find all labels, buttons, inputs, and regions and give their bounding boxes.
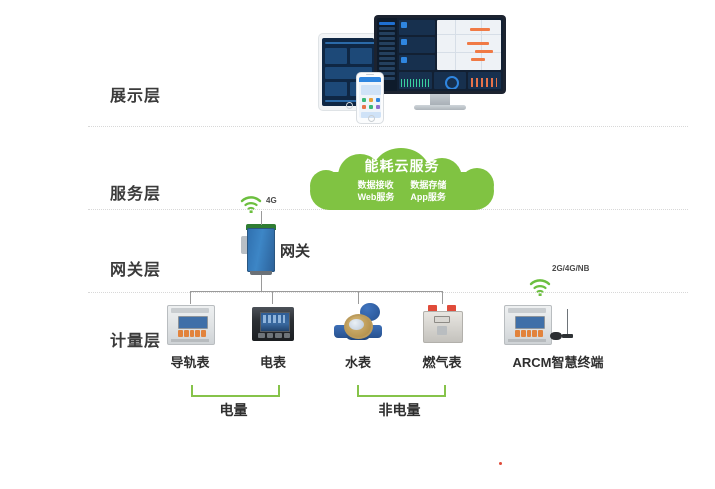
gateway-label: 网关 [280, 240, 310, 261]
wifi-signal-icon [529, 279, 551, 296]
layer-title-display: 展示层 [110, 82, 161, 106]
cloud-item-data-receive: 数据接收 [358, 179, 395, 191]
gateway-uplink-tag: 4G [266, 196, 277, 205]
layer-separator-gateway-metering [88, 292, 688, 293]
architecture-diagram: 展示层 服务层 网关层 计量层 [0, 0, 715, 443]
link-to-din-rail-meter [190, 291, 191, 304]
wifi-signal-icon [240, 196, 262, 213]
phone-screen [359, 77, 381, 118]
layer-title-service: 服务层 [110, 180, 161, 204]
link-gateway-trunk [261, 275, 262, 291]
device-label-electricity-meter: 电表 [250, 352, 296, 371]
layer-separator-display-service [88, 126, 688, 127]
dashboard-stat-cards [399, 20, 435, 70]
cloud-item-app-service: App服务 [410, 191, 446, 203]
layer-title-metering: 计量层 [110, 327, 161, 351]
device-label-din-rail-meter: 导轨表 [160, 352, 220, 371]
bracket-electric [191, 385, 280, 397]
gateway-device-icon [247, 228, 275, 272]
layer-title-gateway: 网关层 [110, 256, 161, 280]
antenna-icon [550, 309, 576, 343]
group-label-electric: 电量 [191, 400, 276, 420]
link-gateway-to-cloud [261, 211, 262, 225]
device-label-water-meter: 水表 [335, 352, 381, 371]
terminal-uplink-tag: 2G/4G/NB [552, 264, 589, 273]
water-meter-icon [334, 303, 382, 343]
monitor-screen [377, 18, 503, 91]
device-label-smart-terminal: ARCM智慧终端 [498, 352, 618, 371]
tablet-home-button [346, 102, 353, 109]
gas-meter-icon [421, 305, 463, 343]
monitor-icon [374, 15, 506, 113]
phone-icon [356, 72, 384, 124]
cloud-service-block: 能耗云服务 数据接收 Web服务 数据存储 App服务 [310, 150, 494, 210]
smart-terminal-icon [504, 305, 550, 343]
cloud-item-data-storage: 数据存储 [410, 179, 446, 191]
cloud-title: 能耗云服务 [310, 156, 494, 176]
panel-meter-icon [250, 305, 296, 343]
link-to-electricity-meter [272, 291, 273, 304]
device-label-gas-meter: 燃气表 [412, 352, 472, 371]
link-to-gas-meter [442, 291, 443, 304]
monitor-stand-neck [430, 94, 450, 105]
monitor-bezel [374, 15, 506, 94]
din-rail-meter-icon [167, 305, 213, 343]
phone-home-button [368, 115, 375, 122]
link-meter-bus [190, 291, 442, 292]
group-label-non-electric: 非电量 [357, 400, 442, 420]
bracket-non-electric [357, 385, 446, 397]
monitor-stand-base [414, 105, 466, 110]
cloud-column-2: 数据存储 App服务 [410, 179, 446, 203]
dashboard-map-panel [437, 20, 501, 70]
dashboard-widgets [399, 72, 501, 89]
cloud-column-1: 数据接收 Web服务 [358, 179, 395, 203]
cloud-item-web-service: Web服务 [358, 191, 395, 203]
